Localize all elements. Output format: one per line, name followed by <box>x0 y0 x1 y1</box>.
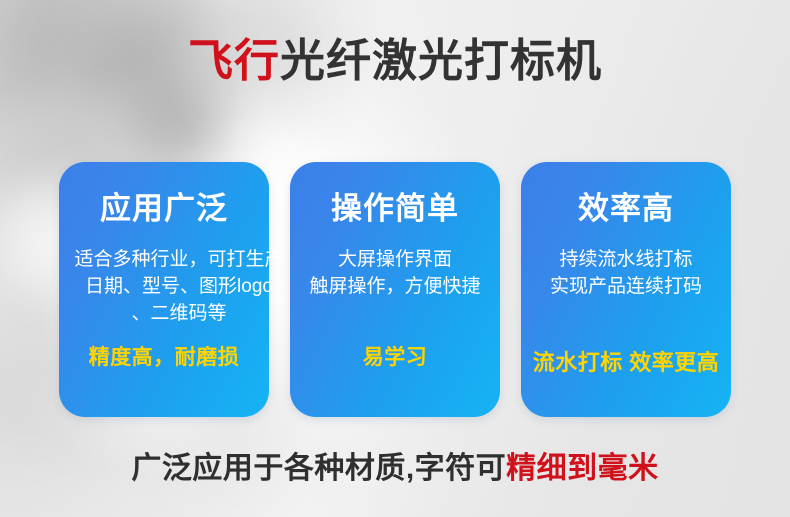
feature-card-application: 应用广泛 适合多种行业，可打生产 日期、型号、图形logo 、二维码等 精度高，… <box>59 162 269 417</box>
feature-card-body-line: 大屏操作界面 <box>309 247 480 274</box>
feature-card-body: 适合多种行业，可打生产 日期、型号、图形logo 、二维码等 <box>59 247 299 328</box>
feature-card-body: 大屏操作界面 触屏操作，方便快捷 <box>309 247 480 301</box>
feature-card-accent: 易学习 <box>290 341 500 371</box>
feature-card-body-line: 持续流水线打标 <box>515 247 737 274</box>
feature-card-body-line: 日期、型号、图形logo <box>59 274 299 301</box>
feature-card-body-line: 实现产品连续打码 <box>515 274 737 301</box>
page-title-rest: 光纤激光打标机 <box>280 35 602 86</box>
feature-card-body-line: 触屏操作，方便快捷 <box>309 274 480 301</box>
feature-card-efficiency: 效率高 持续流水线打标 实现产品连续打码 流水打标 效率更高 <box>521 162 731 417</box>
feature-card-accent: 精度高，耐磨损 <box>59 341 269 371</box>
feature-card-body-line: 、二维码等 <box>59 301 299 328</box>
feature-card-title: 操作简单 <box>331 191 459 227</box>
promo-banner: 飞行光纤激光打标机 应用广泛 适合多种行业，可打生产 日期、型号、图形logo … <box>0 0 790 517</box>
feature-card-title: 应用广泛 <box>100 191 228 227</box>
footer-tagline-dark: 广泛应用于各种材质,字符可 <box>131 452 506 485</box>
feature-card-operation: 操作简单 大屏操作界面 触屏操作，方便快捷 易学习 <box>290 162 500 417</box>
page-title-highlight: 飞行 <box>188 35 280 86</box>
feature-card-list: 应用广泛 适合多种行业，可打生产 日期、型号、图形logo 、二维码等 精度高，… <box>59 162 731 417</box>
footer-tagline-red: 精细到毫米 <box>506 452 659 485</box>
feature-card-title: 效率高 <box>578 191 674 227</box>
feature-card-body: 持续流水线打标 实现产品连续打码 <box>515 247 737 301</box>
feature-card-body-line: 适合多种行业，可打生产 <box>59 247 299 274</box>
footer-tagline: 广泛应用于各种材质,字符可精细到毫米 <box>0 452 790 485</box>
page-title: 飞行光纤激光打标机 <box>0 36 790 86</box>
feature-card-accent: 流水打标 效率更高 <box>521 345 731 377</box>
